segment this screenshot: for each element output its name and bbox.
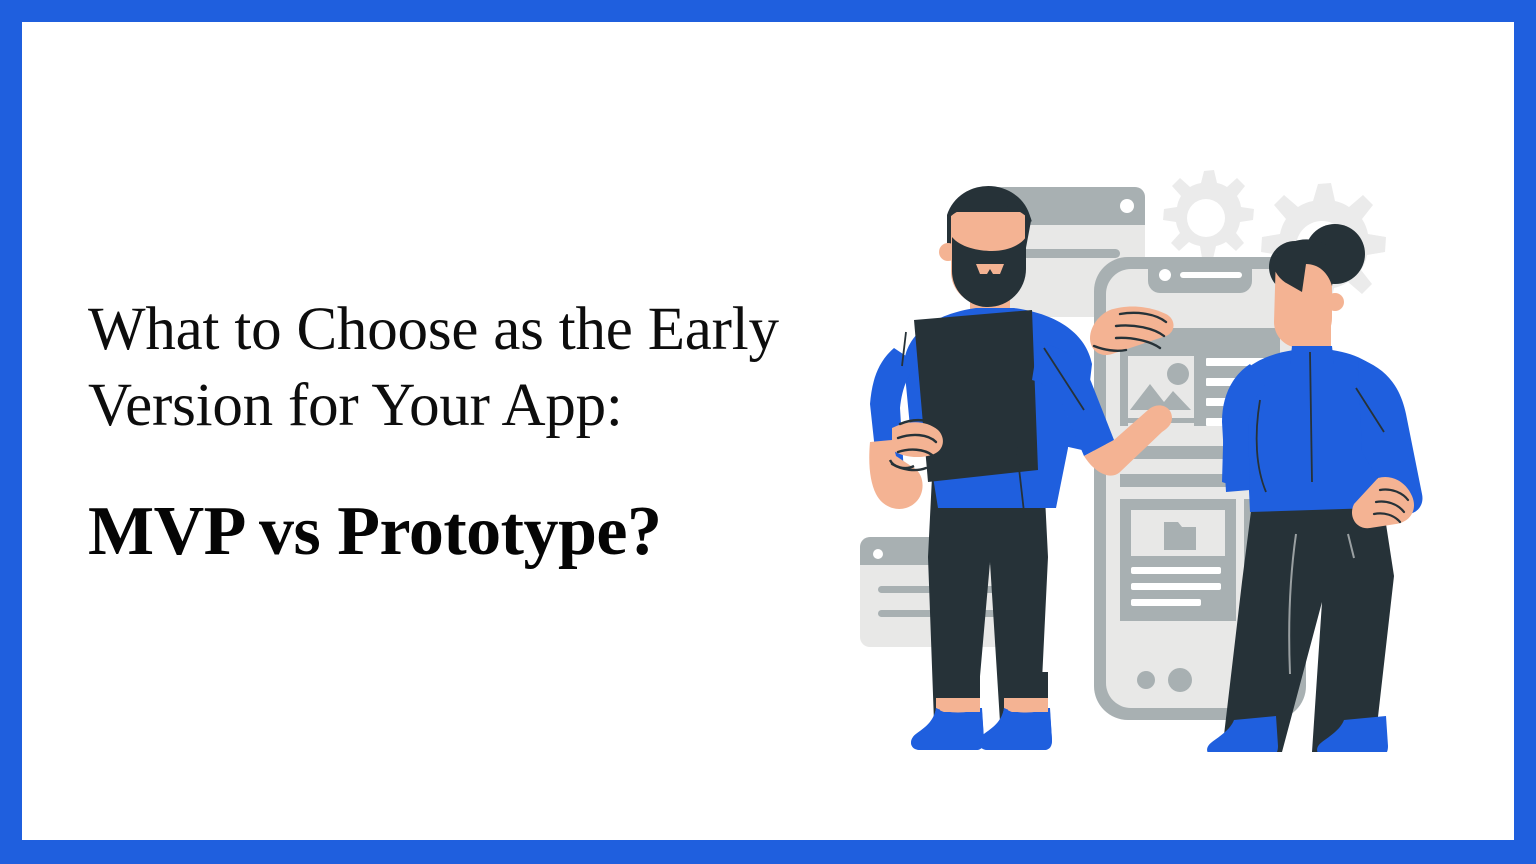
home-dot-left [1137,671,1155,689]
man-tablet [914,310,1038,482]
home-dot-right [1168,668,1192,692]
slide-inner-area: What to Choose as the Early Version for … [22,22,1514,840]
slide-canvas: What to Choose as the Early Version for … [0,0,1536,864]
headline-emphasis: MVP vs Prototype? [88,492,828,572]
gear-small-icon [1163,170,1254,259]
headline-line-1: What to Choose as the Early [88,292,828,368]
hero-illustration [848,142,1468,752]
headline-block: What to Choose as the Early Version for … [88,292,828,572]
headline-line-2: Version for Your App: [88,368,828,444]
